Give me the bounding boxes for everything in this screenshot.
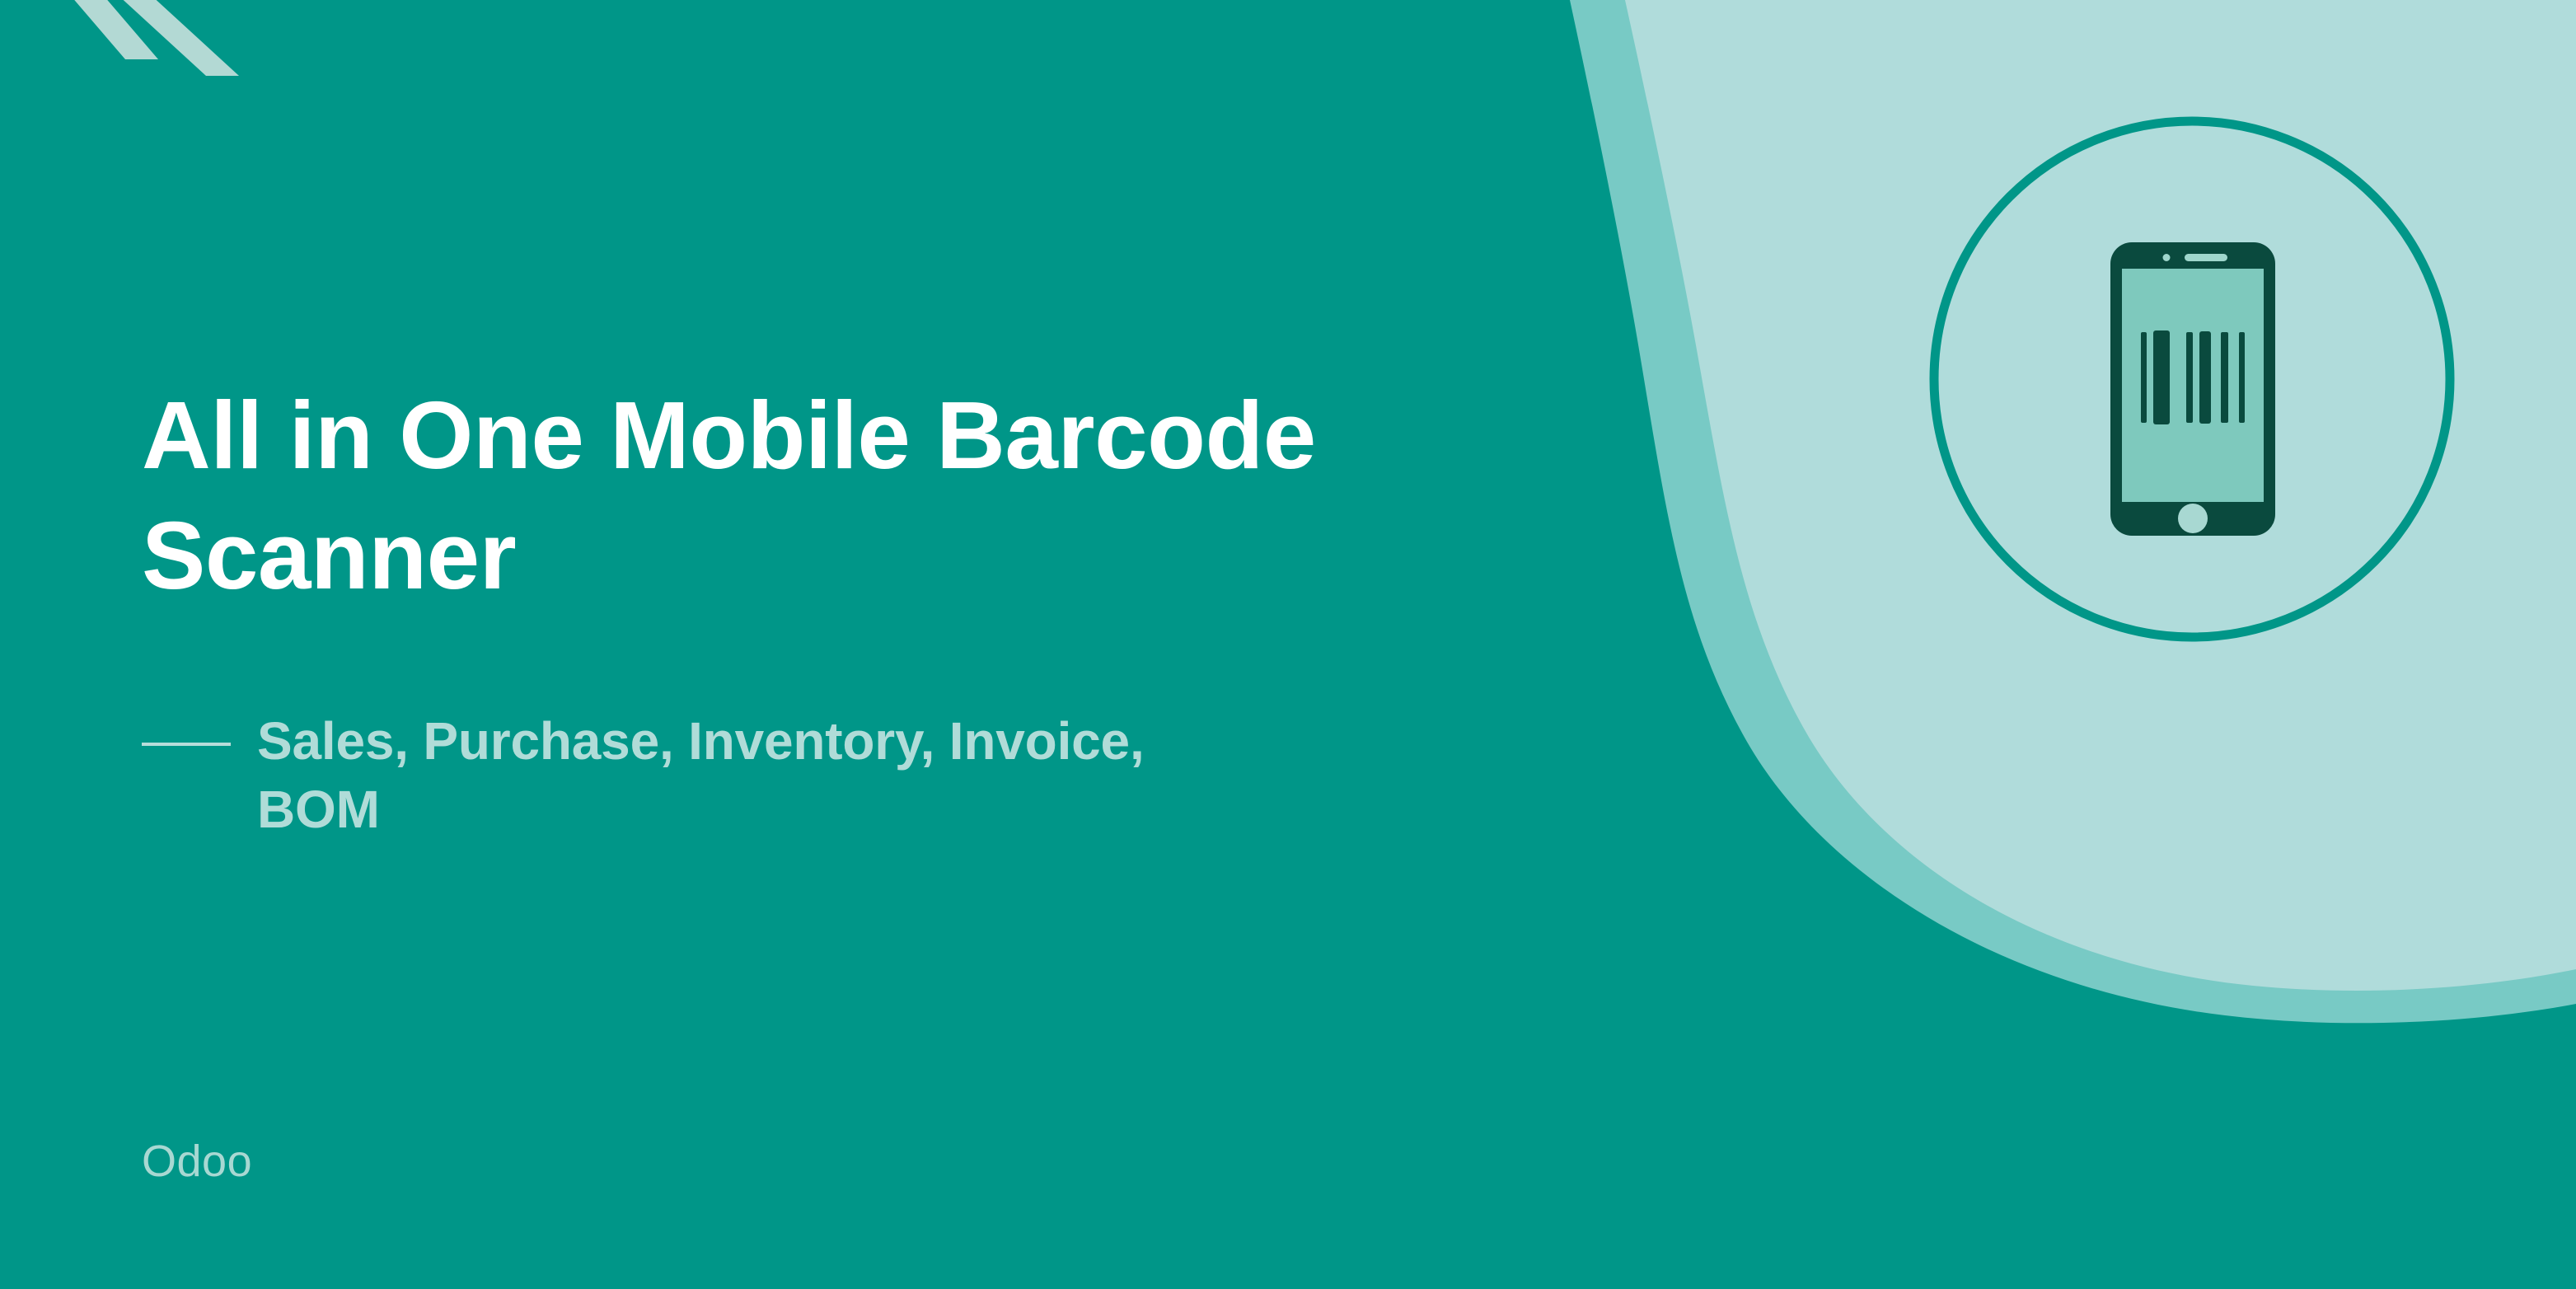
slide-title: All in One Mobile Barcode Scanner <box>142 375 1757 616</box>
subtitle-line-2: BOM <box>257 776 1145 844</box>
text-content-layer: All in One Mobile Barcode Scanner Sales,… <box>0 0 2576 1289</box>
footer-brand-label: Odoo <box>142 1136 252 1187</box>
title-line-2: Scanner <box>142 495 1757 616</box>
subtitle-text-group: Sales, Purchase, Inventory, Invoice, BOM <box>257 707 1145 844</box>
subtitle-rule-divider <box>142 743 231 746</box>
title-line-1: All in One Mobile Barcode <box>142 375 1757 495</box>
subtitle-line-1: Sales, Purchase, Inventory, Invoice, <box>257 707 1145 776</box>
slide-canvas: All in One Mobile Barcode Scanner Sales,… <box>0 0 2576 1289</box>
slide-subtitle: Sales, Purchase, Inventory, Invoice, BOM <box>142 707 1790 844</box>
